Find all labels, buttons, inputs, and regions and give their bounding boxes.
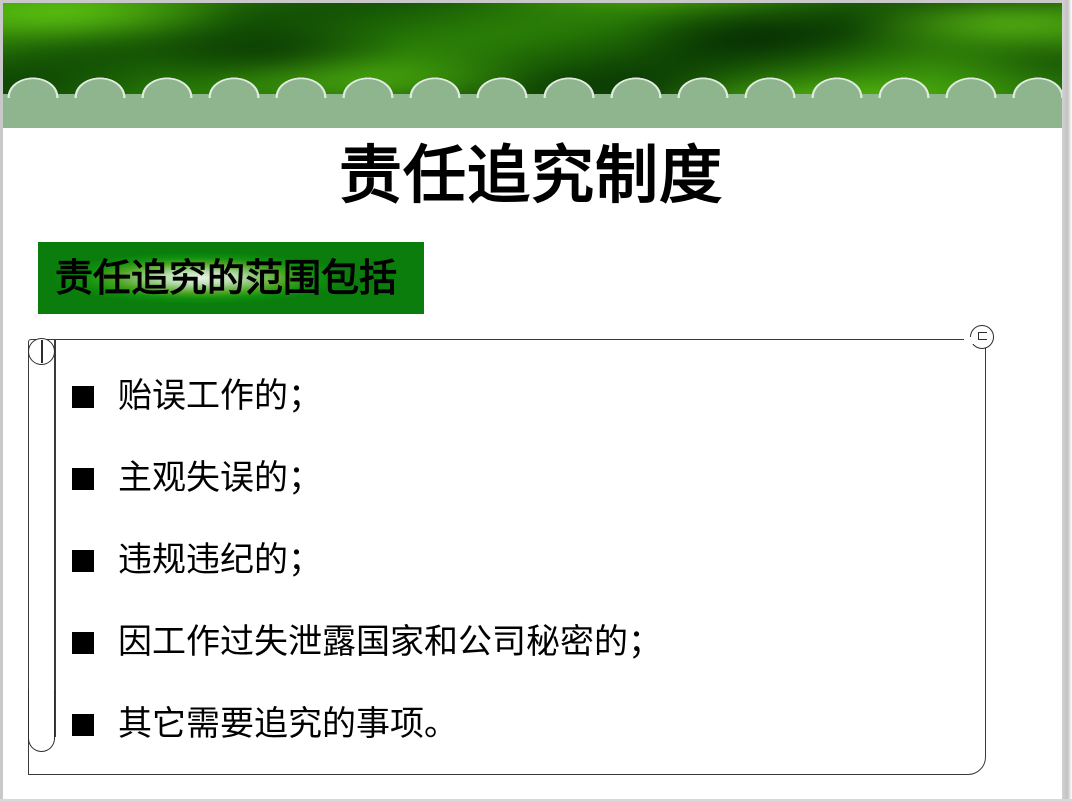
scroll-curl-top-left-bar (41, 340, 43, 363)
scroll-curl-top-right-bar (978, 332, 987, 340)
list-item: 其它需要追究的事项。 (72, 684, 972, 766)
scroll-curl-bottom-left-mask (29, 688, 54, 736)
filled-square-bullet-icon (72, 714, 94, 736)
list-item: 违规违纪的； (72, 520, 972, 602)
header-banner (3, 3, 1062, 128)
subtitle-banner-label: 责任追究的范围包括 (38, 259, 397, 297)
page-title: 责任追究制度 (0, 144, 1062, 207)
list-item-label: 贻误工作的； (118, 378, 322, 415)
scallop-highlight-decor (3, 77, 1062, 98)
filled-square-bullet-icon (72, 468, 94, 490)
list-item: 因工作过失泄露国家和公司秘密的； (72, 602, 972, 684)
list-item: 主观失误的； (72, 438, 972, 520)
subtitle-banner: 责任追究的范围包括 (38, 242, 424, 314)
filled-square-bullet-icon (72, 632, 94, 654)
presentation-slide: 责任追究制度 责任追究的范围包括 贻误工作的； 主观失误的； 违规违纪的； 因工… (0, 0, 1072, 801)
bullet-list: 贻误工作的； 主观失误的； 违规违纪的； 因工作过失泄露国家和公司秘密的； 其它… (72, 356, 972, 766)
scallop-band (3, 94, 1062, 128)
list-item-label: 其它需要追究的事项。 (118, 706, 458, 743)
list-item-label: 主观失误的； (118, 460, 322, 497)
filled-square-bullet-icon (72, 550, 94, 572)
list-item-label: 违规违纪的； (118, 542, 322, 579)
list-item: 贻误工作的； (72, 356, 972, 438)
slide-edge-right (1062, 0, 1072, 801)
filled-square-bullet-icon (72, 386, 94, 408)
scroll-spine-line (54, 339, 56, 737)
list-item-label: 因工作过失泄露国家和公司秘密的； (118, 624, 662, 661)
